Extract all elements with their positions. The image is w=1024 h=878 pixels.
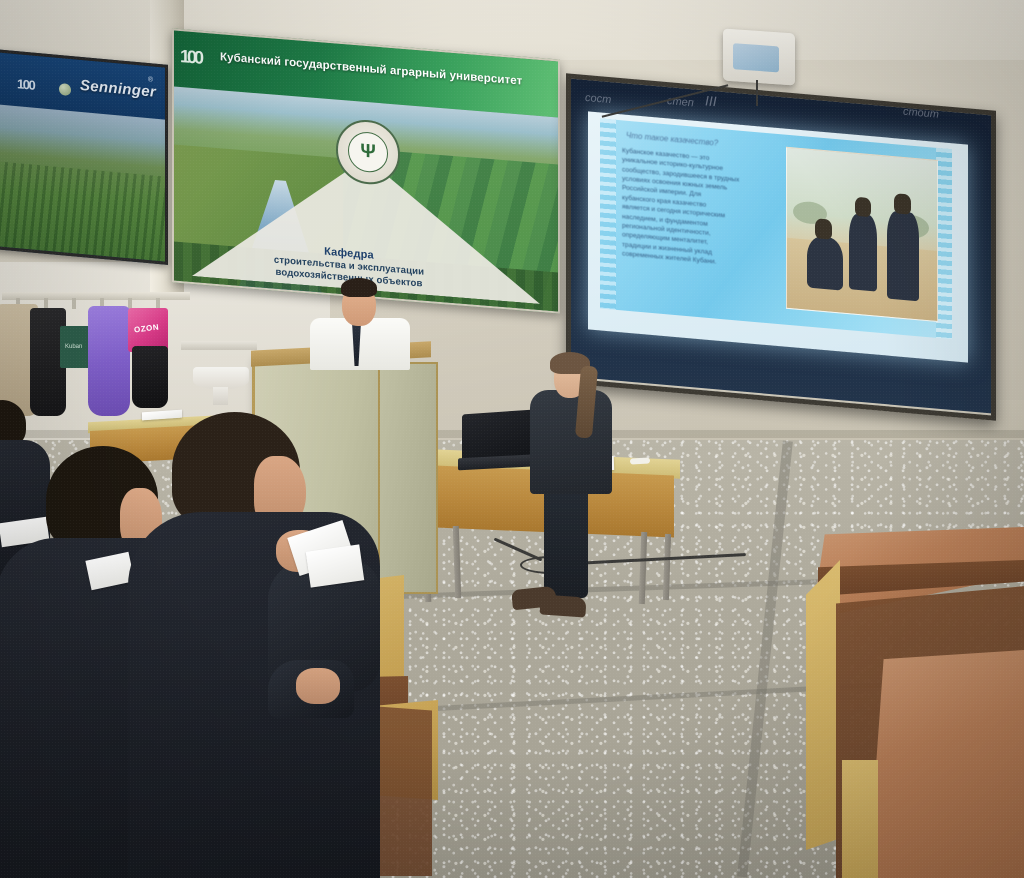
audience-student-foreground bbox=[150, 412, 370, 878]
coat-hook bbox=[72, 298, 76, 309]
classroom-photo: 100 ® Senninger 100 Кубанский государств… bbox=[0, 0, 1024, 878]
cossack-figure-middle bbox=[849, 213, 877, 291]
projector-power-cable bbox=[756, 80, 758, 106]
slide-title: Что такое казачество? bbox=[626, 131, 718, 148]
presenting-student bbox=[310, 278, 410, 368]
slide-ornament-left bbox=[600, 118, 616, 309]
operator-legs bbox=[544, 488, 588, 598]
green-tote-bag[interactable]: Kuban bbox=[60, 326, 90, 368]
slide-bullet-list: Кубанское казачество — это уникальное ис… bbox=[622, 146, 772, 271]
front-right-desk-side bbox=[842, 760, 878, 878]
handout-paper[interactable] bbox=[306, 544, 364, 587]
sink-pedestal bbox=[213, 387, 228, 405]
senninger-banner: 100 ® Senninger bbox=[0, 49, 168, 265]
slide-historical-illustration bbox=[786, 147, 938, 322]
university-title: Кубанский государственный аграрный униве… bbox=[220, 51, 522, 87]
slide-ornament-right bbox=[936, 148, 952, 339]
emblem-glyph: Ψ bbox=[348, 131, 388, 174]
presentation-slide: Что такое казачество? Кубанское казачест… bbox=[600, 118, 952, 339]
chalk-note-left: сост bbox=[585, 92, 611, 106]
kubgau-department-banner: 100 Кубанский государственный аграрный у… bbox=[172, 28, 560, 313]
desk-leg bbox=[453, 526, 462, 598]
hanging-purple-puffer-jacket[interactable] bbox=[88, 306, 130, 416]
front-right-desk-top[interactable] bbox=[868, 650, 1024, 878]
sink-shelf bbox=[181, 341, 257, 350]
ozon-bag-label: OZON bbox=[134, 323, 160, 335]
cossack-head bbox=[894, 193, 911, 214]
wall-sink bbox=[193, 357, 249, 405]
chalk-note-marks: III bbox=[705, 92, 717, 109]
speaker-hair bbox=[341, 278, 377, 297]
senninger-100-logo: 100 bbox=[17, 76, 34, 93]
cossack-head bbox=[815, 218, 832, 239]
desk-leg bbox=[663, 534, 671, 600]
senninger-brand-label: Senninger bbox=[80, 77, 156, 101]
cossack-head bbox=[855, 197, 871, 217]
chalk-note-right: стоит bbox=[903, 106, 939, 121]
senninger-banner-photo bbox=[0, 104, 165, 261]
podium-side-panel bbox=[378, 362, 438, 594]
senninger-sprinkler-icon bbox=[59, 83, 71, 96]
projection-screen: Что такое казачество? Кубанское казачест… bbox=[588, 111, 968, 362]
projector-lens-icon bbox=[733, 43, 779, 72]
seated-student-operator bbox=[520, 352, 620, 612]
sink-bowl bbox=[193, 367, 249, 389]
operator-torso bbox=[530, 390, 612, 494]
whiteboard-marker[interactable] bbox=[630, 457, 650, 464]
floor-seam bbox=[737, 441, 793, 878]
cossack-figure-right bbox=[887, 211, 919, 302]
desk-leg bbox=[639, 532, 648, 604]
operator-shoe bbox=[539, 594, 586, 617]
green-bag-label: Kuban bbox=[65, 344, 82, 350]
kubgau-100-logo: 100 bbox=[180, 46, 201, 69]
right-desk-side-panel bbox=[806, 560, 840, 850]
hanging-black-jacket-2[interactable] bbox=[132, 346, 168, 408]
projector bbox=[723, 28, 795, 85]
student-hand-resting bbox=[296, 668, 340, 704]
coat-rack-bar bbox=[2, 292, 190, 300]
cossack-figure-seated bbox=[807, 236, 843, 291]
